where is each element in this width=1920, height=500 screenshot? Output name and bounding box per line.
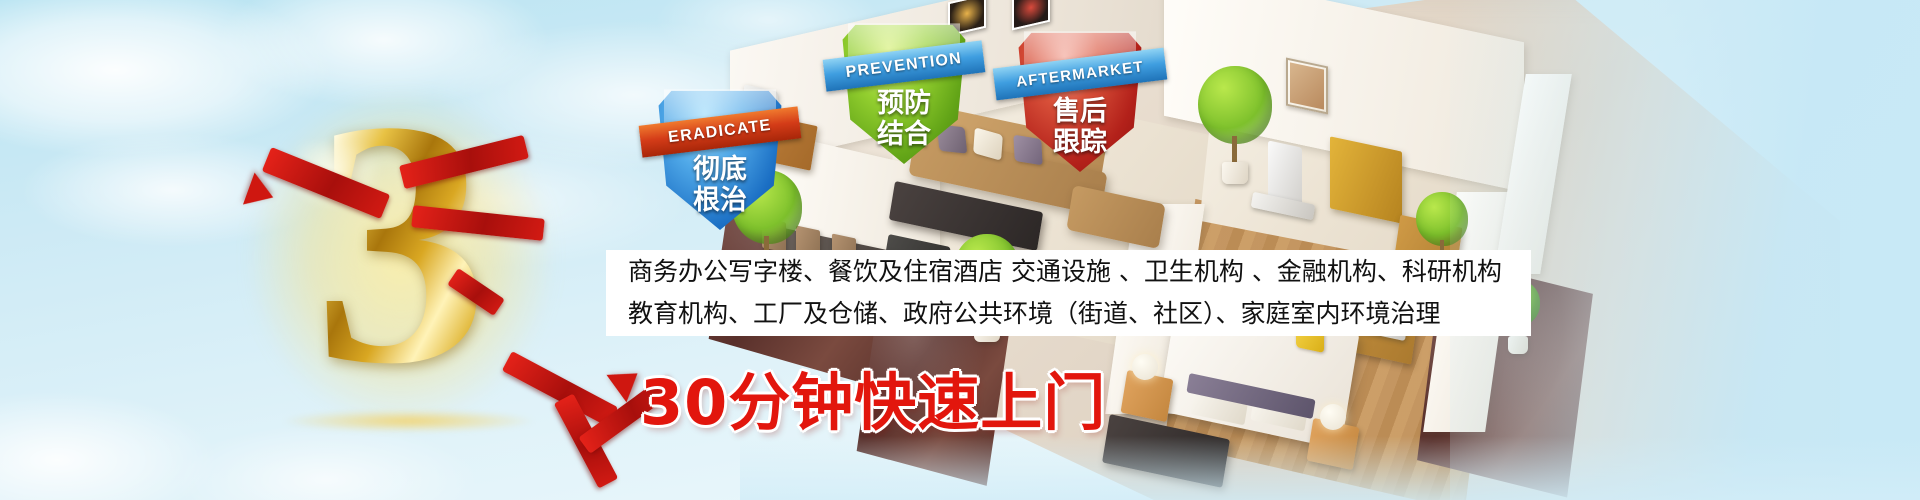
upper-kitchen-cabinet <box>1330 136 1402 223</box>
badge-prevention[interactable]: PREVENTION 预防 结合 <box>840 16 968 164</box>
badge-aftermarket[interactable]: AFTERMARKET 售后 跟踪 <box>1016 24 1144 172</box>
golden-three-sparkle <box>284 410 534 432</box>
service-scope-panel: 商务办公写字楼、餐饮及住宿酒店 交通设施 、卫生机构 、金融机构、科研机构 教育… <box>606 250 1531 336</box>
badge-english-label: ERADICATE <box>667 117 772 148</box>
badge-chinese-line-1: 预防 <box>840 88 968 119</box>
service-scope-line-1: 商务办公写字楼、餐饮及住宿酒店 交通设施 、卫生机构 、金融机构、科研机构 <box>628 251 1509 293</box>
plant-foliage <box>1198 66 1272 144</box>
headline-30-minute-service: 30分钟快速上门 <box>640 352 1106 442</box>
plant-pot <box>1222 162 1248 184</box>
apartment-bottom-fade <box>740 436 1920 500</box>
badge-chinese-line-1: 彻底 <box>656 154 784 185</box>
badge-chinese-line-2: 结合 <box>840 119 968 150</box>
portrait-artwork <box>1290 62 1324 109</box>
bedside-lamp-right <box>1320 404 1346 430</box>
badge-chinese-line-2: 根治 <box>656 185 784 216</box>
badge-chinese-line-1: 售后 <box>1016 96 1144 127</box>
bedside-lamp-left <box>1132 354 1158 380</box>
badge-chinese-label: 彻底 根治 <box>656 154 784 216</box>
service-scope-line-2: 教育机构、工厂及仓储、政府公共环境（街道、社区）、家庭室内环境治理 <box>628 293 1509 335</box>
golden-three-graphic: 3 <box>236 78 566 438</box>
badge-chinese-line-2: 跟踪 <box>1016 127 1144 158</box>
badge-chinese-label: 预防 结合 <box>840 88 968 150</box>
framed-portrait-picture <box>1286 58 1328 115</box>
living-room-plant <box>1198 66 1274 186</box>
badge-chinese-label: 售后 跟踪 <box>1016 96 1144 158</box>
badge-eradicate[interactable]: ERADICATE 彻底 根治 <box>656 82 784 230</box>
promo-banner: 3 ERADICATE 彻底 根治 PREVENTION 预防 结合 <box>0 0 1920 500</box>
